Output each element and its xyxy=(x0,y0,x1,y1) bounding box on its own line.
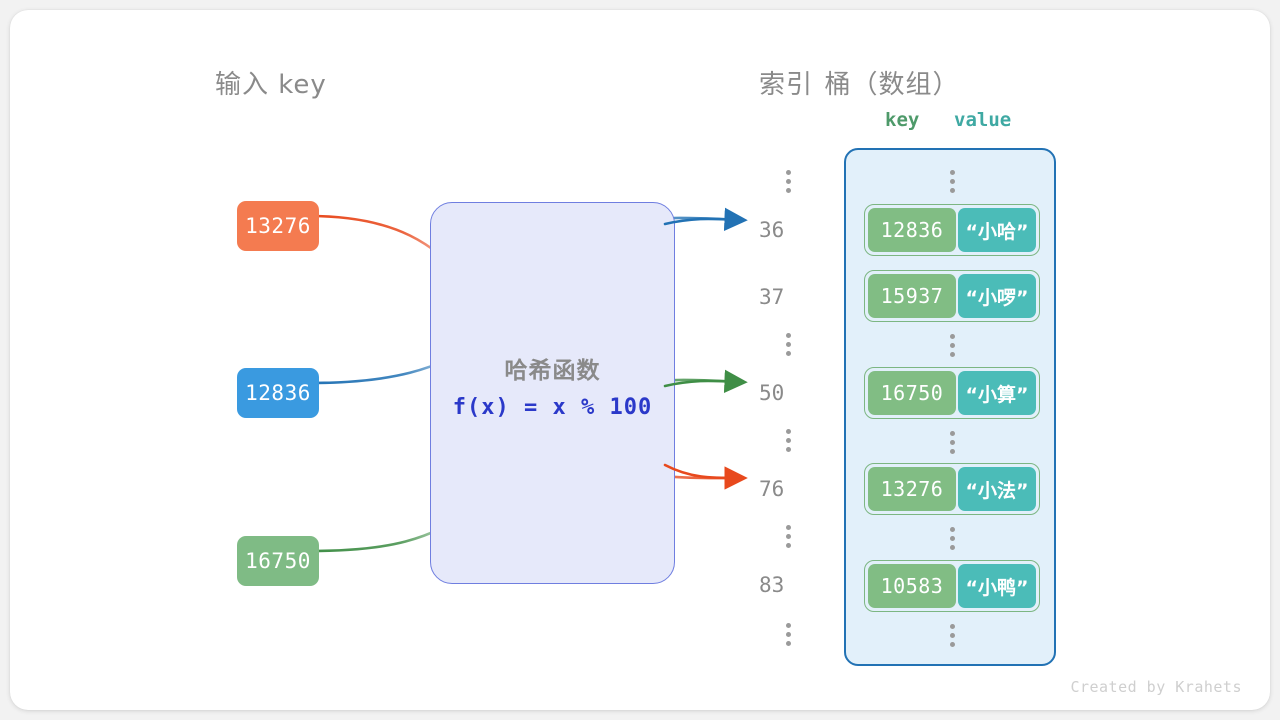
index-value-83: 83 xyxy=(759,573,819,597)
diagram-card: 输入 key 索引 桶（数组） key value xyxy=(10,10,1270,710)
bucket-entry-value: “小哈” xyxy=(958,208,1036,252)
bucket-entry-value: “小法” xyxy=(958,467,1036,511)
bucket-ellipsis xyxy=(945,170,959,193)
column-heading-key: key xyxy=(885,109,919,131)
index-ellipsis xyxy=(781,525,795,548)
bucket-entry-value: “小鸭” xyxy=(958,564,1036,608)
column-heading-value: value xyxy=(954,109,1011,131)
arrow-to-index-76 xyxy=(665,465,740,478)
column-heading-index: 索引 xyxy=(759,64,813,101)
bucket-ellipsis xyxy=(945,431,959,454)
bucket-ellipsis xyxy=(945,334,959,357)
bucket-entry-key: 10583 xyxy=(868,564,956,608)
index-value-50: 50 xyxy=(759,381,819,405)
column-heading-bucket: 桶（数组） xyxy=(824,64,959,101)
index-ellipsis xyxy=(781,170,795,193)
index-ellipsis xyxy=(781,623,795,646)
bucket-entry-value: “小算” xyxy=(958,371,1036,415)
bucket-entry-key: 13276 xyxy=(868,467,956,511)
input-key-chip[interactable]: 12836 xyxy=(237,368,319,418)
hash-function-box: 哈希函数 f(x) = x % 100 xyxy=(430,202,675,584)
diagram-canvas: 输入 key 索引 桶（数组） key value xyxy=(0,0,1280,720)
bucket-entry-key: 16750 xyxy=(868,371,956,415)
bucket-ellipsis xyxy=(945,527,959,550)
arrow-to-index-36 xyxy=(665,219,740,224)
bucket-entry[interactable]: 13276 “小法” xyxy=(864,463,1040,515)
input-key-label: 16750 xyxy=(245,549,311,573)
bucket-entry[interactable]: 10583 “小鸭” xyxy=(864,560,1040,612)
bucket-ellipsis xyxy=(945,624,959,647)
index-value-37: 37 xyxy=(759,285,819,309)
bucket-entry-key: 12836 xyxy=(868,208,956,252)
bucket-entry-key: 15937 xyxy=(868,274,956,318)
input-key-label: 12836 xyxy=(245,381,311,405)
credit-text: Created by Krahets xyxy=(1070,678,1242,696)
hash-function-formula: f(x) = x % 100 xyxy=(431,395,674,420)
index-ellipsis xyxy=(781,333,795,356)
input-key-label: 13276 xyxy=(245,214,311,238)
bucket-entry[interactable]: 15937 “小啰” xyxy=(864,270,1040,322)
column-heading-input: 输入 key xyxy=(215,64,327,101)
input-key-chip[interactable]: 13276 xyxy=(237,201,319,251)
bucket-array: 12836 “小哈” 15937 “小啰” 16750 “小算” 13276 “… xyxy=(844,148,1056,666)
index-value-36: 36 xyxy=(759,218,819,242)
bucket-entry[interactable]: 12836 “小哈” xyxy=(864,204,1040,256)
hash-function-title: 哈希函数 xyxy=(431,351,674,385)
index-value-76: 76 xyxy=(759,477,819,501)
index-ellipsis xyxy=(781,429,795,452)
input-key-chip[interactable]: 16750 xyxy=(237,536,319,586)
bucket-entry-value: “小啰” xyxy=(958,274,1036,318)
bucket-entry[interactable]: 16750 “小算” xyxy=(864,367,1040,419)
arrow-to-index-50 xyxy=(665,381,740,386)
